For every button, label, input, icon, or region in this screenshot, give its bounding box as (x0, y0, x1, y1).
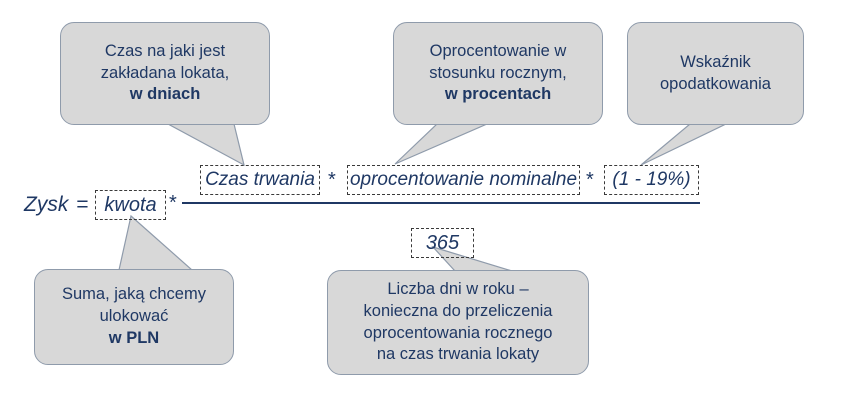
callout-interest-line1: Oprocentowanie w (430, 42, 567, 60)
callout-tax-line1: Wskaźnik (680, 53, 751, 71)
callout-amount-line2: ulokować (100, 307, 169, 325)
formula-term-duration[interactable]: Czas trwania (200, 165, 320, 195)
tail-amount (119, 216, 192, 270)
callout-duration-line3: w dniach (130, 85, 201, 103)
callout-days-line3: oprocentowania rocznego (364, 324, 553, 342)
callout-days-line1: Liczba dni w roku – (387, 280, 528, 298)
callout-days-line4: na czas trwania lokaty (377, 345, 539, 363)
formula-mult-b: * (586, 169, 594, 192)
callout-interest-line3: w procentach (445, 85, 551, 103)
callout-tax[interactable]: Wskaźnik opodatkowania (627, 22, 804, 125)
formula-term-tax[interactable]: (1 - 19%) (604, 165, 699, 195)
callout-duration[interactable]: Czas na jaki jest zakładana lokata, w dn… (60, 22, 270, 125)
callout-days-in-year[interactable]: Liczba dni w roku – konieczna do przelic… (327, 270, 589, 375)
callout-amount-line1: Suma, jaką chcemy (62, 285, 206, 303)
formula-equals: = (76, 193, 88, 217)
formula-amount-term[interactable]: kwota (95, 190, 166, 220)
callout-duration-line1: Czas na jaki jest (105, 42, 225, 60)
formula-mult-a: * (328, 169, 336, 192)
tail-interest (395, 124, 487, 164)
callout-duration-line2: zakładana lokata, (101, 64, 229, 82)
callout-interest-line2: stosunku rocznym, (429, 64, 567, 82)
tail-duration (168, 124, 244, 165)
formula-denominator[interactable]: 365 (411, 228, 474, 258)
formula-result-label: Zysk (24, 193, 68, 217)
callout-tax-line2: opodatkowania (660, 75, 771, 93)
callout-amount[interactable]: Suma, jaką chcemy ulokować w PLN (34, 269, 234, 365)
formula-mult-1: * (169, 192, 177, 215)
diagram-canvas: Czas na jaki jest zakładana lokata, w dn… (0, 0, 867, 405)
formula-term-interest[interactable]: oprocentowanie nominalne (347, 165, 580, 195)
tail-tax (641, 124, 726, 165)
callout-interest[interactable]: Oprocentowanie w stosunku rocznym, w pro… (393, 22, 603, 125)
callout-days-line2: konieczna do przeliczenia (364, 302, 553, 320)
callout-amount-line3: w PLN (109, 329, 159, 347)
